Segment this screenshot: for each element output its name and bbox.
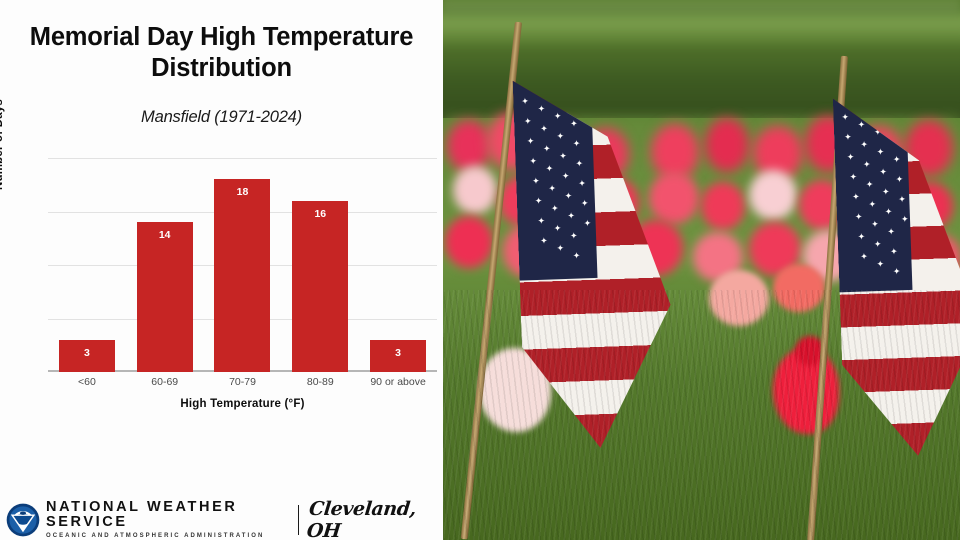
- x-tick-labels: <60 60-69 70-79 80-89 90 or above: [48, 376, 437, 388]
- bar-value-label: 18: [214, 186, 270, 198]
- memorial-flags-photo: ✦ ✦ ✦ ✦ ✦ ✦ ✦ ✦ ✦ ✦ ✦ ✦ ✦ ✦ ✦ ✦ ✦ ✦ ✦ ✦: [443, 0, 960, 540]
- y-axis-title: Number of Days: [0, 99, 5, 190]
- bar-series: 3 14 18 16 3: [48, 158, 437, 372]
- bar-slot: 3: [359, 158, 437, 372]
- photo-rose: [701, 182, 745, 230]
- photo-rose: [453, 166, 497, 214]
- bar-slot: 18: [204, 158, 282, 372]
- bar-lt60[interactable]: 3: [59, 340, 115, 372]
- x-axis-title: High Temperature (°F): [48, 398, 437, 410]
- office-name: Cleveland, OH: [305, 498, 438, 540]
- x-tick-60-69: 60-69: [126, 376, 204, 388]
- bar-value-label: 3: [59, 347, 115, 359]
- bar-90-or-above[interactable]: 3: [370, 340, 426, 372]
- agency-name: NATIONAL WEATHER SERVICE: [46, 500, 291, 530]
- bar-70-79[interactable]: 18: [214, 179, 270, 372]
- photo-rose: [649, 172, 699, 224]
- agency-subtitle: OCEANIC AND ATMOSPHERIC ADMINISTRATION: [46, 533, 291, 540]
- x-tick-70-79: 70-79: [204, 376, 282, 388]
- photo-rose: [445, 216, 493, 268]
- chart-subtitle: Mansfield (1971-2024): [14, 108, 429, 127]
- x-tick-80-89: 80-89: [281, 376, 359, 388]
- chart-title: Memorial Day High Temperature Distributi…: [14, 22, 429, 84]
- graphic-canvas: Memorial Day High Temperature Distributi…: [0, 0, 960, 540]
- bar-slot: 14: [126, 158, 204, 372]
- bar-value-label: 14: [137, 229, 193, 241]
- photo-rose: [705, 118, 749, 172]
- footer: NATIONAL WEATHER SERVICE OCEANIC AND ATM…: [6, 500, 436, 540]
- agency-wordmark: NATIONAL WEATHER SERVICE OCEANIC AND ATM…: [46, 500, 291, 540]
- bar-value-label: 3: [370, 347, 426, 359]
- bar-80-89[interactable]: 16: [292, 201, 348, 372]
- bar-slot: 16: [281, 158, 359, 372]
- photo-rose: [749, 170, 797, 220]
- bar-value-label: 16: [292, 208, 348, 220]
- chart-panel: Memorial Day High Temperature Distributi…: [0, 0, 443, 540]
- x-tick-lt60: <60: [48, 376, 126, 388]
- photo-grass-texture: [443, 290, 960, 540]
- footer-divider: [298, 505, 299, 535]
- x-tick-90-or-above: 90 or above: [359, 376, 437, 388]
- bar-slot: 3: [48, 158, 126, 372]
- photo-rose: [447, 120, 491, 172]
- bar-60-69[interactable]: 14: [137, 222, 193, 372]
- noaa-seal-icon: [6, 503, 40, 537]
